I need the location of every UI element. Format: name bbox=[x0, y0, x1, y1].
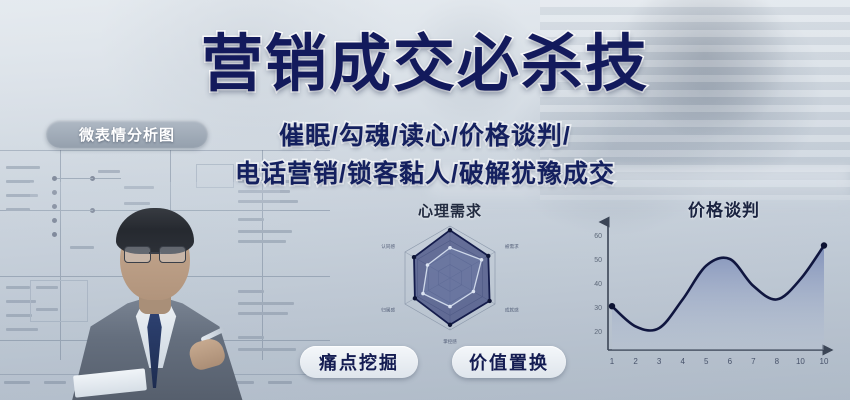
svg-text:6: 6 bbox=[728, 357, 733, 366]
svg-text:1: 1 bbox=[610, 357, 615, 366]
svg-text:成就感: 成就感 bbox=[505, 306, 519, 313]
svg-text:5: 5 bbox=[704, 357, 709, 366]
svg-text:50: 50 bbox=[594, 257, 602, 264]
pill-pain-point[interactable]: 痛点挖掘 bbox=[300, 346, 418, 378]
svg-text:2: 2 bbox=[633, 357, 638, 366]
svg-text:8: 8 bbox=[775, 357, 780, 366]
svg-text:10: 10 bbox=[820, 357, 829, 366]
svg-text:60: 60 bbox=[594, 233, 602, 240]
svg-text:认同感: 认同感 bbox=[381, 243, 395, 250]
pill-value-exchange[interactable]: 价值置换 bbox=[452, 346, 566, 378]
svg-text:归属感: 归属感 bbox=[381, 306, 395, 313]
svg-text:7: 7 bbox=[751, 357, 756, 366]
svg-text:3: 3 bbox=[657, 357, 662, 366]
pill-value-exchange-label: 价值置换 bbox=[469, 349, 549, 375]
svg-text:20: 20 bbox=[594, 329, 602, 336]
svg-text:安全感: 安全感 bbox=[443, 216, 457, 218]
svg-text:被需求: 被需求 bbox=[505, 243, 519, 250]
radar-chart-svg: 安全感被需求成就感掌控感归属感认同感 bbox=[330, 216, 570, 350]
radar-chart: 心理需求 安全感被需求成就感掌控感归属感认同感 bbox=[330, 200, 570, 350]
line-chart-svg: 6050403020 123456781010 bbox=[578, 214, 840, 382]
svg-text:40: 40 bbox=[594, 281, 602, 288]
pill-pain-point-label: 痛点挖掘 bbox=[319, 349, 399, 375]
presenter-photo bbox=[40, 190, 270, 400]
svg-text:10: 10 bbox=[796, 357, 805, 366]
subtitle-line-1: 催眠/勾魂/读心/价格谈判/ bbox=[0, 124, 850, 149]
svg-text:30: 30 bbox=[594, 305, 602, 312]
svg-text:掌控感: 掌控感 bbox=[443, 338, 457, 345]
page-title: 营销成交必杀技 bbox=[0, 34, 850, 96]
promo-banner: 微表情分析图 营销成交必杀技 催眠/勾魂/读心/价格谈判/ 电话营销/锁客黏人/… bbox=[0, 0, 850, 400]
subtitle-line-2: 电话营销/锁客黏人/破解犹豫成交 bbox=[0, 162, 850, 187]
glasses-icon bbox=[124, 246, 186, 262]
line-chart: 价格谈判 6050403020 123456781010 bbox=[578, 196, 840, 382]
svg-text:4: 4 bbox=[680, 357, 685, 366]
